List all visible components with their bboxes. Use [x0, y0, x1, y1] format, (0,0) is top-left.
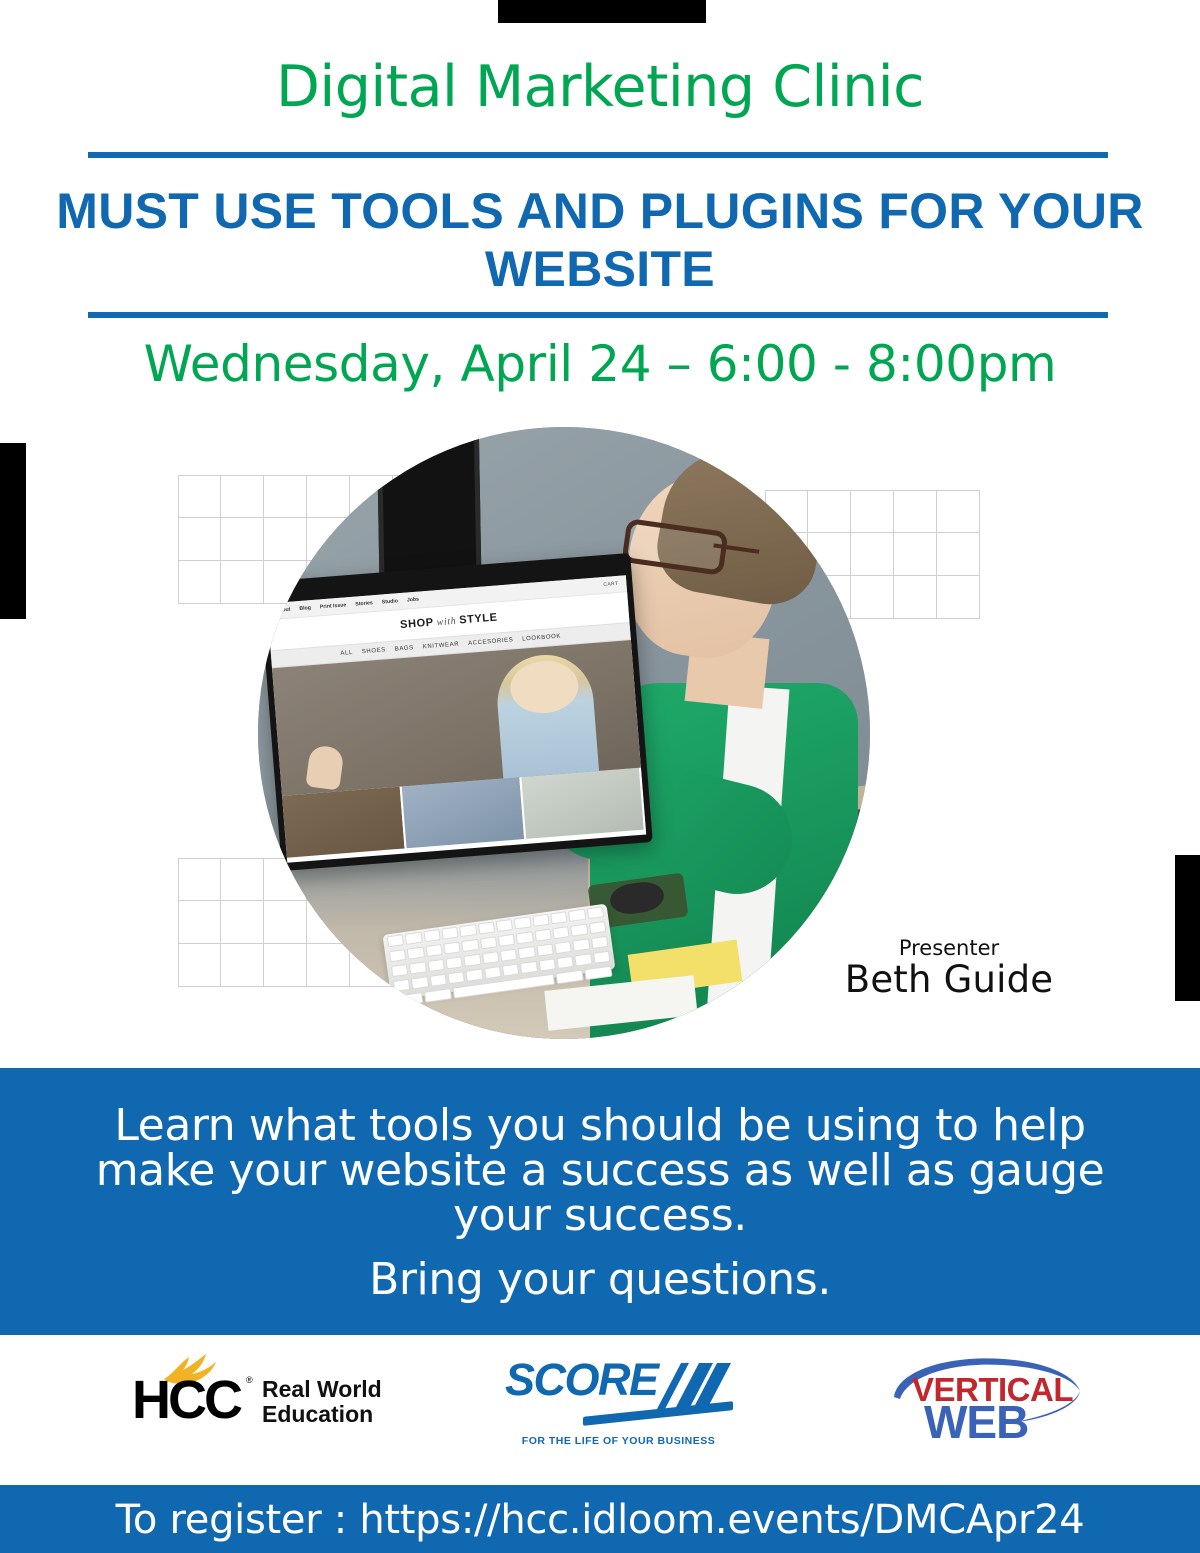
- page-title: MUST USE TOOLS AND PLUGINS FOR YOUR WEBS…: [50, 182, 1150, 298]
- nav-item-print-issue: Print Issue: [320, 602, 347, 610]
- vertical-web-logo: VERTICAL WEB: [888, 1349, 1088, 1457]
- hcc-tagline-line-1: Real World: [262, 1377, 382, 1402]
- decorative-black-bar-top: [498, 0, 706, 23]
- nav-item-blog: Blog: [299, 605, 311, 612]
- hcc-logo: HCC ® Real World Education: [126, 1355, 386, 1445]
- registration-footer: To register : https://hcc.idloom.events/…: [0, 1485, 1200, 1553]
- product-tile-1: [282, 786, 406, 857]
- hcc-registered-mark: ®: [246, 1375, 253, 1385]
- category-bags: BAGS: [395, 645, 414, 652]
- divider-rule-top: [88, 152, 1108, 158]
- registration-link[interactable]: To register : https://hcc.idloom.events/…: [0, 1497, 1200, 1543]
- category-knitwear: KNITWEAR: [423, 642, 460, 651]
- description-paragraph-1: Learn what tools you should be using to …: [80, 1104, 1120, 1239]
- presenter-role-label: Presenter: [832, 936, 1066, 960]
- nav-item-stories: Stories: [355, 600, 373, 607]
- product-tile-3: [521, 768, 645, 839]
- hero-photo-woman-at-computer: About Blog Print Issue Stories Studio Jo…: [258, 427, 870, 1039]
- category-all: ALL: [340, 650, 353, 657]
- brand-with-word: with: [436, 615, 456, 628]
- photo-wall-frame: [377, 427, 482, 578]
- category-shoes: SHOES: [362, 647, 386, 655]
- vertical-web-line-2: WEB: [924, 1399, 1028, 1445]
- score-logo: SCORE FOR THE LIFE OF YOUR BUSINESS: [505, 1357, 730, 1457]
- monitor-screen: About Blog Print Issue Stories Studio Jo…: [267, 575, 646, 862]
- hcc-tagline-line-2: Education: [262, 1402, 382, 1427]
- product-tile-2: [402, 777, 526, 848]
- sponsor-logos-row: HCC ® Real World Education SCORE FOR THE…: [0, 1335, 1200, 1485]
- brand-shop-word: SHOP: [400, 616, 434, 631]
- monitor: About Blog Print Issue Stories Studio Jo…: [259, 553, 653, 871]
- site-hero-hand: [305, 744, 344, 790]
- brand-style-word: STYLE: [459, 611, 498, 626]
- category-accesories: ACCESORIES: [468, 637, 514, 647]
- cart-link: CART: [603, 581, 619, 588]
- description-paragraph-2: Bring your questions.: [80, 1258, 1120, 1303]
- hcc-wordmark: HCC: [132, 1373, 240, 1427]
- hcc-tagline: Real World Education: [262, 1377, 382, 1427]
- divider-rule-bottom: [88, 312, 1108, 318]
- description-band: Learn what tools you should be using to …: [0, 1068, 1200, 1335]
- event-series-kicker: Digital Marketing Clinic: [0, 58, 1200, 118]
- presenter-name: Beth Guide: [822, 958, 1076, 1001]
- nav-item-studio: Studio: [382, 598, 399, 605]
- event-datetime: Wednesday, April 24 – 6:00 - 8:00pm: [0, 337, 1200, 392]
- score-tagline: FOR THE LIFE OF YOUR BUSINESS: [511, 1435, 726, 1447]
- nav-item-about: About: [275, 607, 290, 614]
- site-hero-model: [494, 651, 599, 778]
- flyer-page: Digital Marketing Clinic MUST USE TOOLS …: [0, 0, 1200, 1553]
- nav-item-jobs: Jobs: [407, 597, 420, 604]
- category-lookbook: LOOKBOOK: [522, 634, 561, 643]
